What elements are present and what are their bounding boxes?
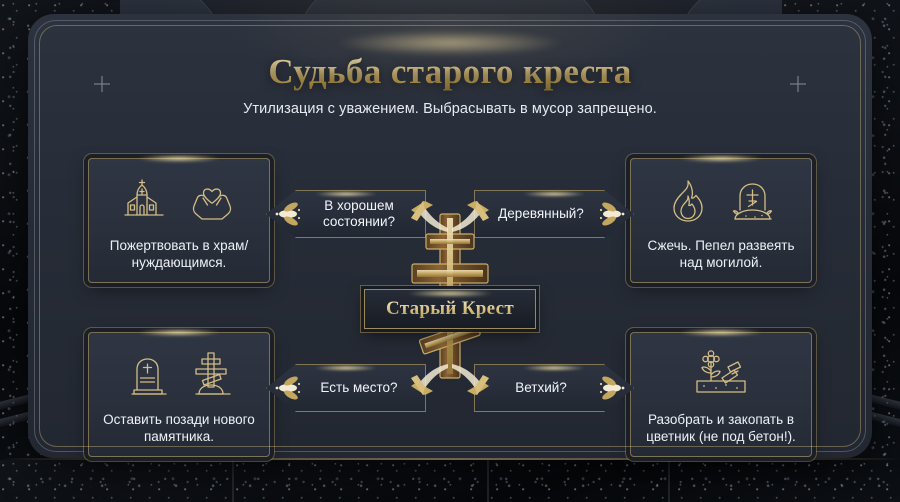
outcome-card-burn[interactable]: Сжечь. Пепел развеять над могилой. <box>630 158 812 283</box>
center-node-label: Старый Крест <box>386 298 514 320</box>
outcome-card-leave-behind[interactable]: Оставить позади нового памятника. <box>88 332 270 457</box>
card-text: Оставить позади нового памятника. <box>98 411 260 445</box>
decision-label: Есть место? <box>294 380 397 396</box>
card-icons <box>98 346 260 402</box>
plinth-joint <box>487 460 489 502</box>
comet-arrow-icon <box>450 196 496 236</box>
card-text: Сжечь. Пепел развеять над могилой. <box>640 237 802 271</box>
card-text: Пожертвовать в храм/нуждающимся. <box>98 237 260 271</box>
infographic-canvas: Судьба старого креста Утилизация с уваже… <box>0 0 900 502</box>
card-icons <box>640 172 802 228</box>
leaf-rosette-ornament <box>269 373 303 403</box>
card-glint <box>680 329 762 336</box>
background-granite-bottom <box>0 460 900 502</box>
leaf-rosette-ornament <box>269 199 303 229</box>
card-icons <box>640 346 802 402</box>
decision-arrow-has-space[interactable]: Есть место? <box>266 364 426 412</box>
plaque-glint <box>406 290 494 297</box>
comet-arrow-icon <box>404 196 450 236</box>
hands-holding-heart-icon <box>186 176 238 228</box>
plinth-joint <box>232 460 234 502</box>
church-icon <box>120 176 172 228</box>
center-node-plaque[interactable]: Старый Крест <box>364 289 536 329</box>
card-glint <box>138 329 220 336</box>
flame-icon <box>663 176 713 228</box>
arrow-glint <box>523 365 585 371</box>
gravestone-cross-icon <box>727 176 779 228</box>
decision-label: Деревянный? <box>498 206 610 222</box>
leaf-rosette-ornament <box>597 373 631 403</box>
main-panel: Судьба старого креста Утилизация с уваже… <box>28 14 872 458</box>
header: Судьба старого креста Утилизация с уваже… <box>28 52 872 117</box>
page-title: Судьба старого креста <box>28 52 872 92</box>
decision-label: Ветхий? <box>515 380 593 396</box>
decision-arrow-wooden[interactable]: Деревянный? <box>474 190 634 238</box>
leaf-rosette-ornament <box>597 199 631 229</box>
outcome-card-bury[interactable]: Разобрать и закопать в цветник (не под б… <box>630 332 812 457</box>
outcome-card-donate[interactable]: Пожертвовать в храм/нуждающимся. <box>88 158 270 283</box>
card-icons <box>98 172 260 228</box>
gravestone-icon <box>125 350 175 402</box>
title-glow <box>335 30 565 56</box>
comet-arrow-icon <box>404 360 450 400</box>
flower-in-soil-icon <box>694 350 748 402</box>
page-subtitle: Утилизация с уважением. Выбрасывать в му… <box>28 101 872 117</box>
arrow-glint <box>315 365 377 371</box>
decision-arrow-good-condition[interactable]: В хорошем состоянии? <box>266 190 426 238</box>
plinth-seam <box>0 458 900 460</box>
comet-arrow-icon <box>450 360 496 400</box>
card-glint <box>138 155 220 162</box>
decision-arrow-decrepit[interactable]: Ветхий? <box>474 364 634 412</box>
arrow-glint <box>523 191 585 197</box>
arrow-glint <box>315 191 377 197</box>
plinth-joint <box>668 460 670 502</box>
orthodox-cross-icon <box>189 350 233 402</box>
card-text: Разобрать и закопать в цветник (не под б… <box>640 411 802 445</box>
card-glint <box>680 155 762 162</box>
